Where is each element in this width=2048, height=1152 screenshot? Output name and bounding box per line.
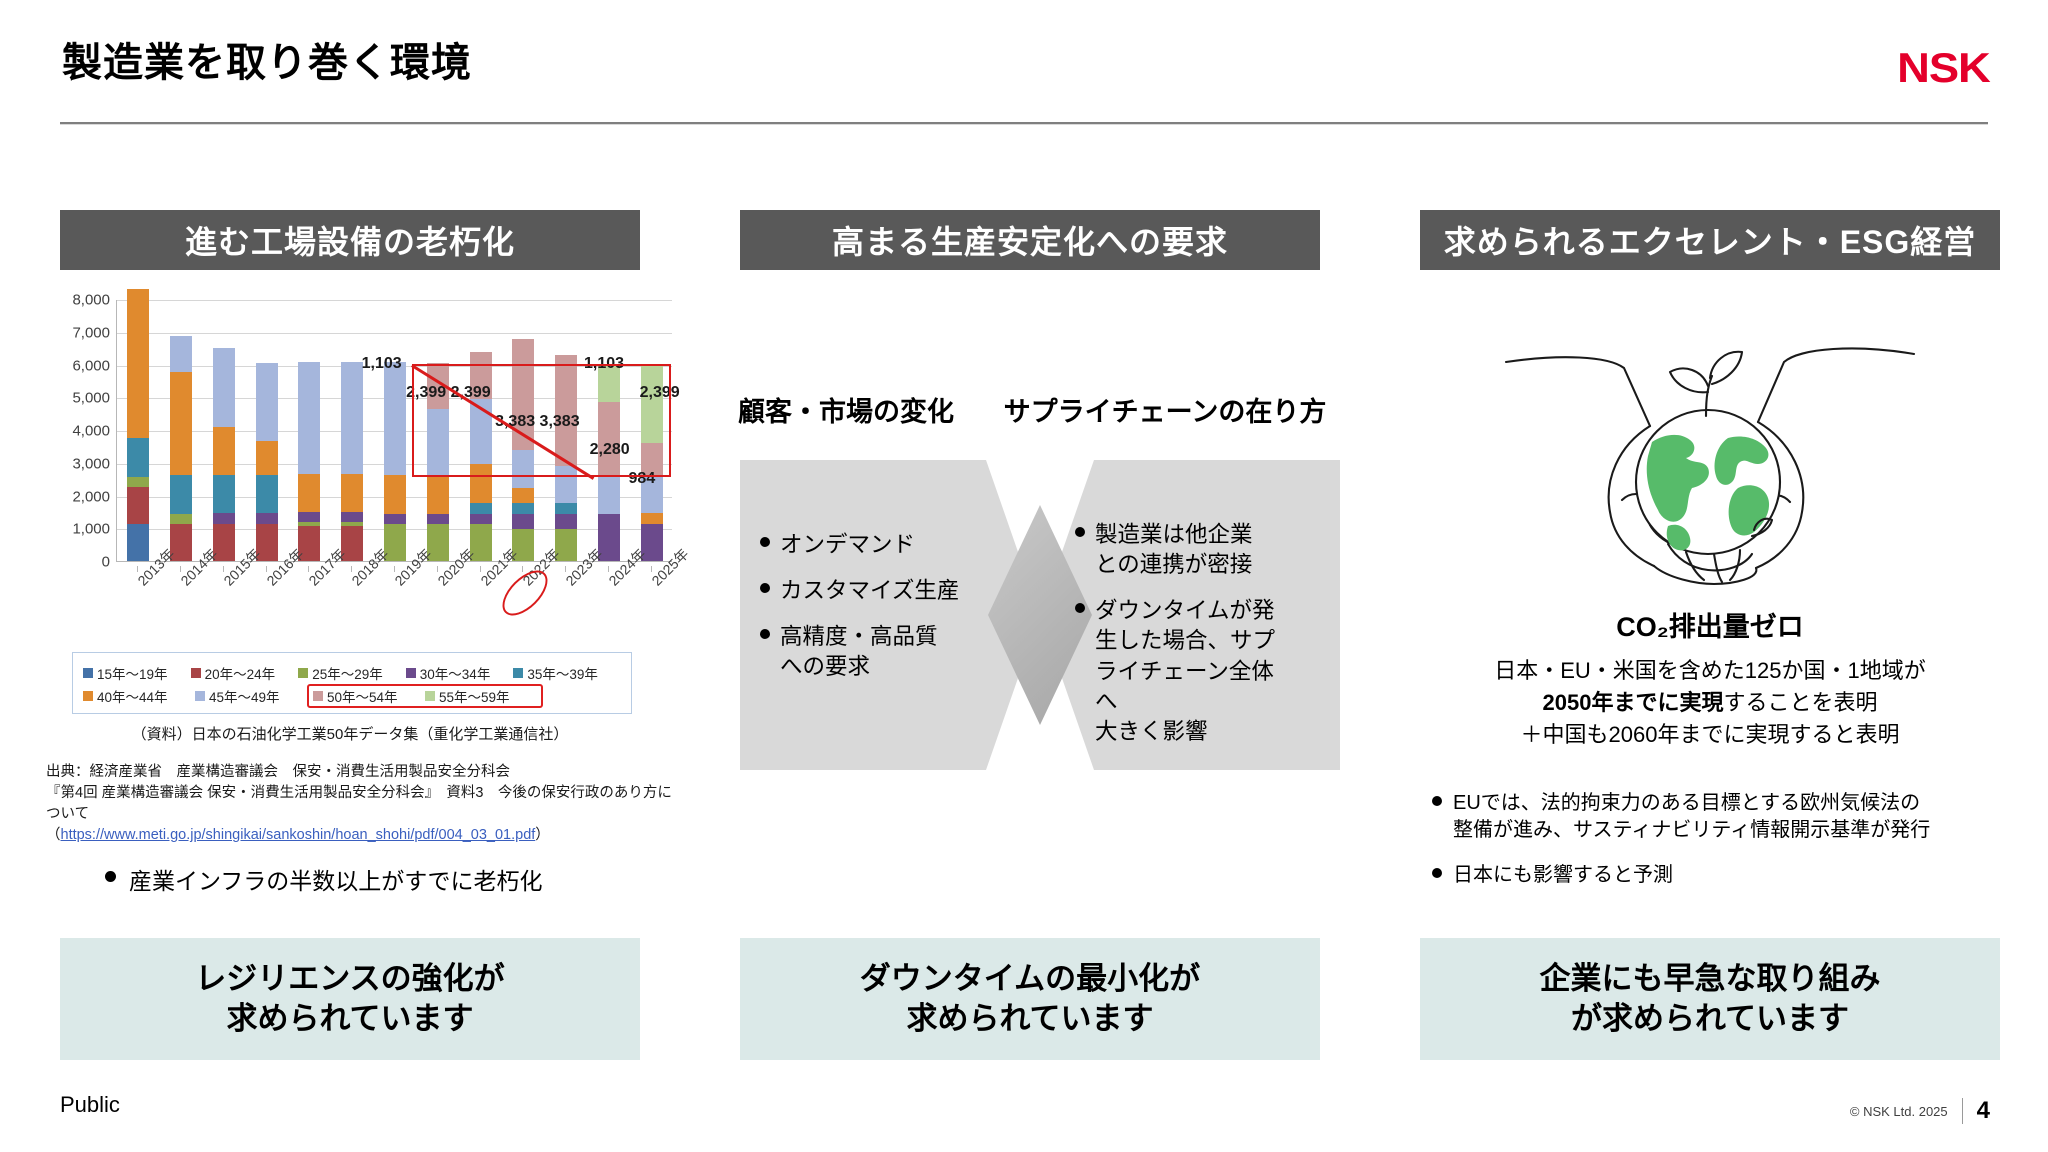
chart-gridline bbox=[117, 333, 672, 334]
legend-swatch-icon bbox=[425, 691, 435, 701]
list-item-text: 日本にも影響すると予測 bbox=[1453, 862, 1673, 889]
list-item: 日本にも影響すると予測 bbox=[1432, 862, 2002, 889]
footer-classification: Public bbox=[60, 1092, 120, 1118]
subhead-supply-chain: サプライチェーンの在り方 bbox=[1000, 390, 1330, 429]
chart-legend-item: 15年～19年 bbox=[83, 663, 191, 683]
list-item: 高精度・高品質 への要求 bbox=[760, 622, 995, 682]
footer-copyright: © NSK Ltd. 2025 bbox=[1850, 1104, 1948, 1119]
left-bullet-text: 産業インフラの半数以上がすでに老朽化 bbox=[129, 862, 543, 896]
chart-bar bbox=[298, 362, 320, 561]
list-item: ダウンタイムが発 生した場合、サプ ライチェーン全体へ 大きく影響 bbox=[1075, 596, 1290, 747]
legend-label: 55年～59年 bbox=[439, 686, 510, 706]
legend-swatch-icon bbox=[313, 691, 323, 701]
chart-y-tick: 4,000 bbox=[72, 423, 110, 440]
chart-y-tick: 8,000 bbox=[72, 292, 110, 309]
list-item-text: ダウンタイムが発 生した場合、サプ ライチェーン全体へ 大きく影響 bbox=[1095, 596, 1290, 747]
chart-bar-segment bbox=[555, 503, 577, 514]
chart-y-tick: 0 bbox=[102, 554, 110, 571]
chart-y-tick: 6,000 bbox=[72, 357, 110, 374]
conclusion-box-middle: ダウンタイムの最小化が 求められています bbox=[740, 938, 1320, 1060]
chart-bar-segment bbox=[127, 477, 149, 487]
conclusion-right-line-2: が求められています bbox=[1571, 999, 1849, 1039]
chart-bar-segment bbox=[384, 514, 406, 524]
chart-source-block: 出典：経済産業省 産業構造審議会 保安・消費生活用製品安全分科会 『第4回 産業… bbox=[46, 762, 686, 846]
chart-bar-segment bbox=[256, 513, 278, 524]
chart-legend-item: 35年～39年 bbox=[513, 663, 621, 683]
chart-y-tick: 1,000 bbox=[72, 521, 110, 538]
co2-line-2: 2050年までに実現することを表明 bbox=[1420, 687, 2000, 719]
aging-equipment-chart: 01,0002,0003,0004,0005,0006,0007,0008,00… bbox=[52, 300, 672, 600]
legend-highlight-box: 50年～54年55年～59年 bbox=[307, 684, 543, 708]
chart-bar-segment bbox=[341, 474, 363, 512]
list-item: 製造業は他企業 との連携が密接 bbox=[1075, 520, 1290, 580]
chart-bar-segment bbox=[384, 362, 406, 475]
chart-bar bbox=[341, 362, 363, 561]
bullet-dot-icon bbox=[1432, 868, 1442, 878]
chart-bar-segment bbox=[127, 524, 149, 561]
chart-bar bbox=[170, 336, 192, 561]
chart-bar-segment bbox=[213, 475, 235, 514]
legend-label: 50年～54年 bbox=[327, 686, 398, 706]
chart-bar-segment bbox=[427, 514, 449, 524]
bullet-dot-icon bbox=[1432, 796, 1442, 806]
chart-bar-segment bbox=[512, 514, 534, 529]
chart-bar-segment bbox=[298, 474, 320, 512]
conclusion-right-line-1: 企業にも早急な取り組み bbox=[1540, 959, 1881, 999]
list-item-text: 高精度・高品質 への要求 bbox=[780, 622, 938, 682]
conclusion-left-line-2: 求められています bbox=[226, 999, 473, 1039]
chart-bar-segment bbox=[256, 363, 278, 442]
co2-line-2-bold: 2050年までに実現 bbox=[1543, 690, 1724, 715]
list-item-text: EUでは、法的拘束力のある目標とする欧州気候法の 整備が進み、サスティナビリティ… bbox=[1453, 790, 1930, 844]
chart-bar-segment bbox=[170, 372, 192, 475]
list-item: EUでは、法的拘束力のある目標とする欧州気候法の 整備が進み、サスティナビリティ… bbox=[1432, 790, 2002, 844]
co2-line-1: 日本・EU・米国を含めた125か国・1地域が bbox=[1420, 655, 2000, 687]
subhead-customer-market: 顧客・市場の変化 bbox=[726, 390, 966, 429]
page-title: 製造業を取り巻く環境 bbox=[62, 30, 472, 88]
bullet-dot-icon bbox=[105, 871, 116, 882]
conclusion-box-right: 企業にも早急な取り組み が求められています bbox=[1420, 938, 2000, 1060]
legend-label: 30年～34年 bbox=[420, 663, 491, 683]
chart-bar-segment bbox=[170, 514, 192, 524]
chart-bar-segment bbox=[598, 476, 620, 514]
title-divider bbox=[60, 122, 1988, 125]
bullet-dot-icon bbox=[760, 629, 770, 639]
chart-y-axis: 01,0002,0003,0004,0005,0006,0007,0008,00… bbox=[52, 300, 114, 562]
footer-divider bbox=[1962, 1098, 1963, 1124]
bullet-dot-icon bbox=[1075, 527, 1085, 537]
chart-bar-segment bbox=[213, 513, 235, 524]
chart-x-axis: 2013年2014年2015年2016年2017年2018年2019年2020年… bbox=[116, 566, 672, 644]
chart-source-caption: （資料）日本の石油化学工業50年データ集（重化学工業通信社） bbox=[60, 723, 640, 744]
chart-legend-item: 45年～49年 bbox=[195, 686, 307, 706]
chart-bar-segment bbox=[470, 503, 492, 514]
source-link-row: （https://www.meti.go.jp/shingikai/sankos… bbox=[46, 825, 686, 846]
chart-plot-area: 1,1032,3992,3993,3833,3831,1032,2802,399… bbox=[116, 300, 672, 562]
source-line-1: 出典：経済産業省 産業構造審議会 保安・消費生活用製品安全分科会 bbox=[46, 762, 686, 783]
legend-swatch-icon bbox=[298, 668, 308, 678]
esg-bullets: EUでは、法的拘束力のある目標とする欧州気候法の 整備が進み、サスティナビリティ… bbox=[1432, 790, 2002, 908]
co2-zero-title: CO₂排出量ゼロ bbox=[1420, 605, 2000, 644]
chart-bar-segment bbox=[170, 336, 192, 372]
slide: 製造業を取り巻く環境 NSK 進む工場設備の老朽化 高まる生産安定化への要求 求… bbox=[0, 0, 2048, 1152]
chart-bar bbox=[256, 363, 278, 561]
section-header-left: 進む工場設備の老朽化 bbox=[60, 210, 640, 270]
list-item: オンデマンド bbox=[760, 530, 995, 560]
chart-bar-segment bbox=[213, 427, 235, 474]
co2-line-2-rest: することを表明 bbox=[1723, 690, 1877, 715]
chart-bar-segment bbox=[256, 441, 278, 474]
chart-bar-segment bbox=[213, 348, 235, 427]
source-line-2: 『第4回 産業構造審議会 保安・消費生活用製品安全分科会』 資料3 今後の保安行… bbox=[46, 783, 686, 825]
conclusion-box-left: レジリエンスの強化が 求められています bbox=[60, 938, 640, 1060]
chart-legend-item: 50年～54年 bbox=[313, 686, 425, 706]
chart-legend-item: 30年～34年 bbox=[406, 663, 514, 683]
footer-page-number: 4 bbox=[1977, 1097, 1990, 1125]
section-header-middle: 高まる生産安定化への要求 bbox=[740, 210, 1320, 270]
chart-bar-segment bbox=[127, 438, 149, 477]
chart-legend-item: 55年～59年 bbox=[425, 686, 537, 706]
customer-market-bullets: オンデマンドカスタマイズ生産高精度・高品質 への要求 bbox=[760, 530, 995, 699]
list-item: カスタマイズ生産 bbox=[760, 576, 995, 606]
co2-description: 日本・EU・米国を含めた125か国・1地域が 2050年までに実現することを表明… bbox=[1420, 655, 2000, 751]
hands-holding-earth-icon bbox=[1500, 330, 1920, 600]
chart-bar-segment bbox=[341, 362, 363, 473]
bullet-dot-icon bbox=[760, 537, 770, 547]
list-item-text: オンデマンド bbox=[780, 530, 915, 560]
chart-bar-segment bbox=[470, 514, 492, 524]
conclusion-middle-line-2: 求められています bbox=[906, 999, 1153, 1039]
chart-bar-segment bbox=[427, 475, 449, 514]
chart-gridline bbox=[117, 300, 672, 301]
chart-bar-segment bbox=[170, 475, 192, 514]
supply-chain-bullets: 製造業は他企業 との連携が密接ダウンタイムが発 生した場合、サプ ライチェーン全… bbox=[1075, 520, 1290, 763]
paren-open: （ bbox=[46, 827, 61, 843]
paren-close: ） bbox=[535, 827, 550, 843]
legend-swatch-icon bbox=[83, 691, 93, 701]
chart-bar bbox=[127, 289, 149, 561]
legend-swatch-icon bbox=[195, 691, 205, 701]
chart-bar-segment bbox=[127, 289, 149, 438]
legend-label: 40年～44年 bbox=[97, 686, 168, 706]
chart-legend-item: 20年～24年 bbox=[191, 663, 299, 683]
legend-swatch-icon bbox=[191, 668, 201, 678]
legend-swatch-icon bbox=[406, 668, 416, 678]
chart-legend: 15年～19年20年～24年25年～29年30年～34年35年～39年 40年～… bbox=[72, 652, 632, 714]
chart-bar-segment bbox=[641, 513, 663, 524]
legend-label: 20年～24年 bbox=[205, 663, 276, 683]
legend-label: 25年～29年 bbox=[312, 663, 383, 683]
chart-y-tick: 3,000 bbox=[72, 455, 110, 472]
conclusion-middle-line-1: ダウンタイムの最小化が bbox=[860, 959, 1200, 999]
chart-data-label: 1,103 bbox=[362, 355, 402, 373]
legend-label: 35年～39年 bbox=[527, 663, 598, 683]
chart-bar bbox=[213, 348, 235, 561]
conclusion-left-line-1: レジリエンスの強化が bbox=[195, 959, 504, 999]
bullet-dot-icon bbox=[760, 583, 770, 593]
legend-swatch-icon bbox=[513, 668, 523, 678]
chart-y-tick: 2,000 bbox=[72, 488, 110, 505]
chart-bar bbox=[384, 362, 406, 561]
chart-bar-segment bbox=[298, 362, 320, 473]
chart-bar-segment bbox=[555, 514, 577, 529]
legend-label: 45年～49年 bbox=[209, 686, 280, 706]
co2-line-3: ＋中国も2060年までに実現すると表明 bbox=[1420, 719, 2000, 751]
chart-legend-item: 25年～29年 bbox=[298, 663, 406, 683]
left-column-bullet: 産業インフラの半数以上がすでに老朽化 bbox=[105, 862, 625, 896]
chart-bar-segment bbox=[512, 503, 534, 514]
chart-bar-segment bbox=[384, 475, 406, 514]
list-item-text: 製造業は他企業 との連携が密接 bbox=[1095, 520, 1253, 580]
legend-label: 15年～19年 bbox=[97, 663, 168, 683]
footer-right: © NSK Ltd. 2025 4 bbox=[1850, 1097, 1990, 1125]
chart-bar-segment bbox=[256, 475, 278, 514]
nsk-logo: NSK bbox=[1897, 44, 1990, 92]
source-url-link[interactable]: https://www.meti.go.jp/shingikai/sankosh… bbox=[61, 827, 536, 843]
chart-bar-segment bbox=[298, 512, 320, 523]
chart-y-tick: 7,000 bbox=[72, 324, 110, 341]
chart-y-tick: 5,000 bbox=[72, 390, 110, 407]
section-header-right: 求められるエクセレント・ESG経営 bbox=[1420, 210, 2000, 270]
chart-bar-segment bbox=[341, 512, 363, 523]
legend-swatch-icon bbox=[83, 668, 93, 678]
chart-bar-segment bbox=[127, 487, 149, 524]
chart-highlight-rectangle bbox=[412, 364, 671, 477]
chart-legend-item: 40年～44年 bbox=[83, 686, 195, 706]
bullet-dot-icon bbox=[1075, 603, 1085, 613]
chart-bar-segment bbox=[512, 488, 534, 503]
list-item-text: カスタマイズ生産 bbox=[780, 576, 959, 606]
